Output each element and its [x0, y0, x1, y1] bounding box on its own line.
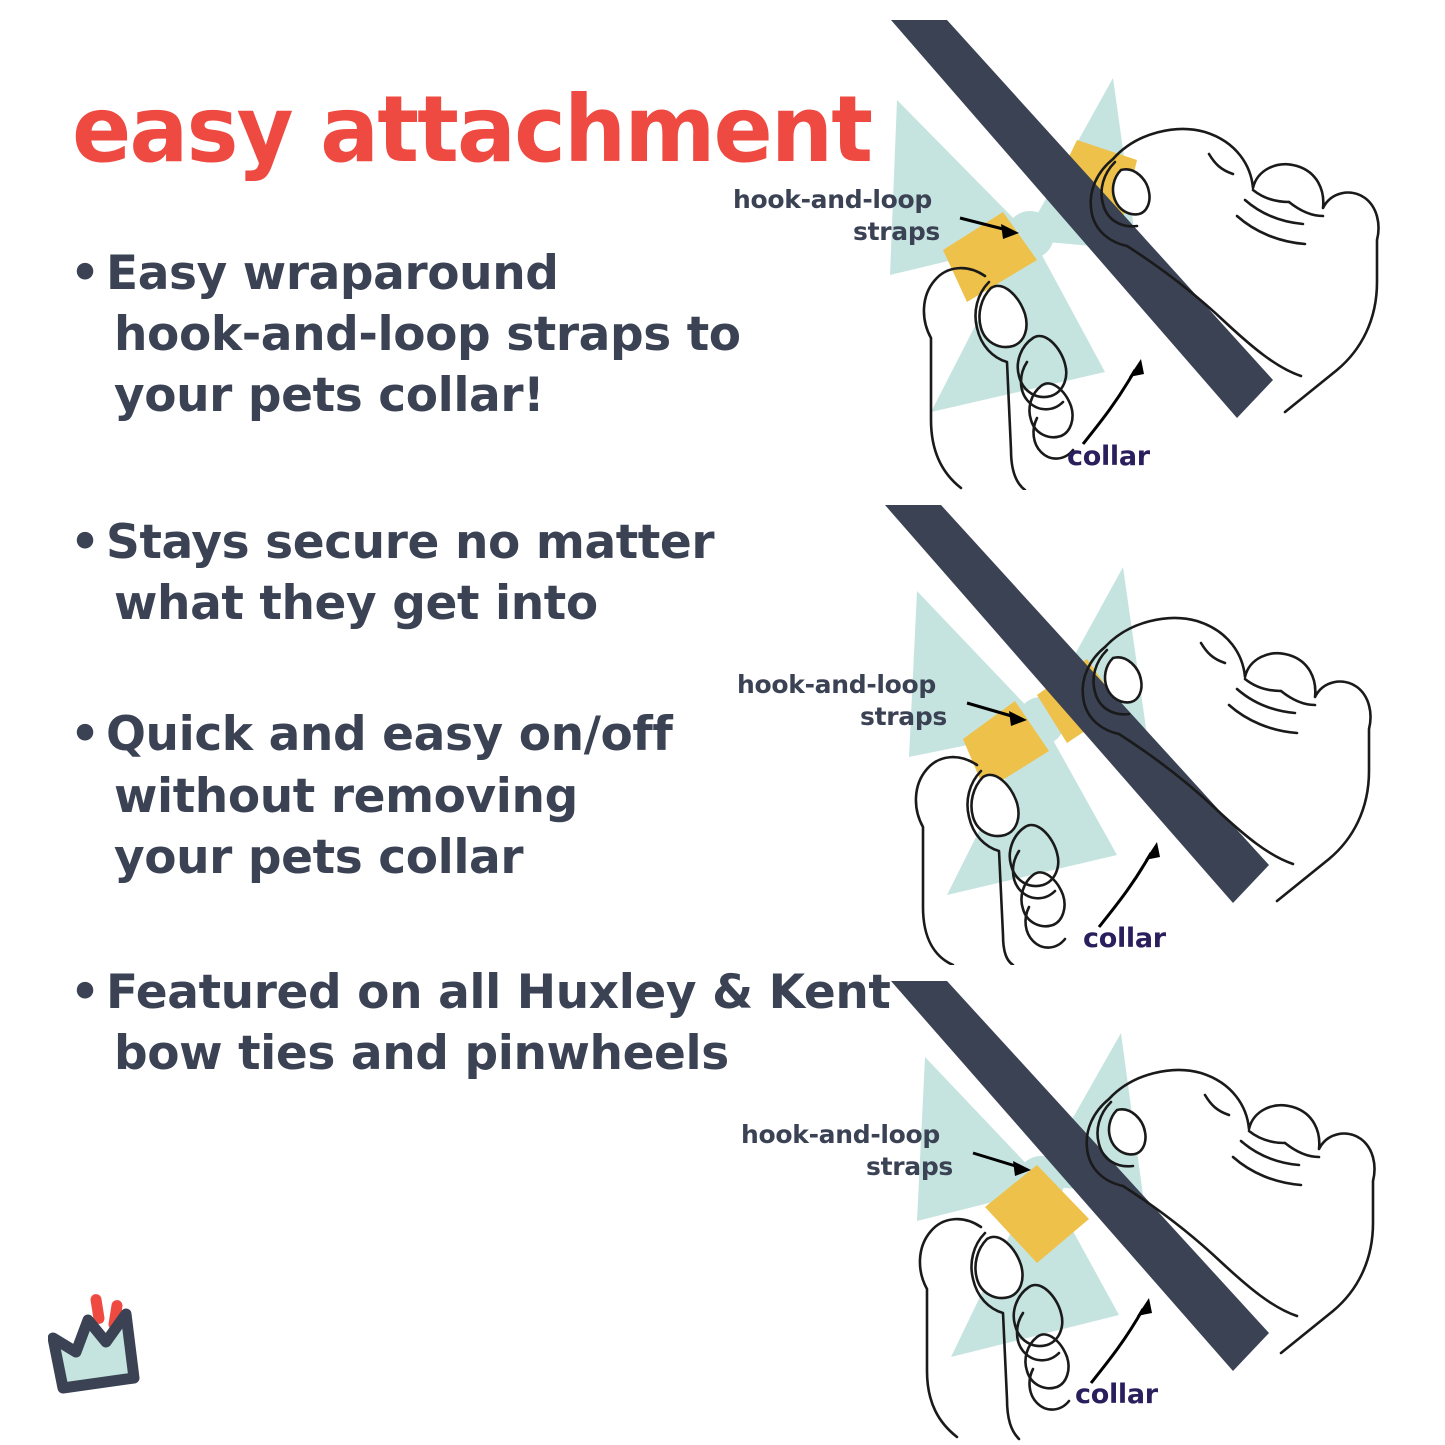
illustration-step-2: hook-and-loop straps collar — [685, 495, 1445, 965]
illustration-step-1: hook-and-loop straps collar — [685, 20, 1445, 490]
strap-label-line1: hook-and-loop — [741, 1120, 940, 1149]
collar-label: collar — [1083, 923, 1167, 954]
bullet-line: Stays secure no matter — [106, 515, 714, 570]
bullet-line: Easy wraparound — [106, 246, 559, 301]
bullet-line: Quick and easy on/off — [106, 707, 672, 762]
collar-label: collar — [1075, 1379, 1159, 1410]
strap-label-line2: straps — [866, 1152, 953, 1181]
strap-label-line1: hook-and-loop — [737, 670, 936, 699]
strap-label-line2: straps — [853, 217, 940, 246]
strap-label-line1: hook-and-loop — [733, 185, 932, 214]
strap-label-line2: straps — [860, 702, 947, 731]
collar-label: collar — [1067, 441, 1151, 472]
illustration-step-3: hook-and-loop straps collar — [685, 975, 1445, 1445]
infographic-page: easy attachment Easy wraparound hook-and… — [0, 0, 1445, 1445]
crown-logo — [48, 1278, 198, 1418]
crown-icon — [53, 1314, 134, 1388]
